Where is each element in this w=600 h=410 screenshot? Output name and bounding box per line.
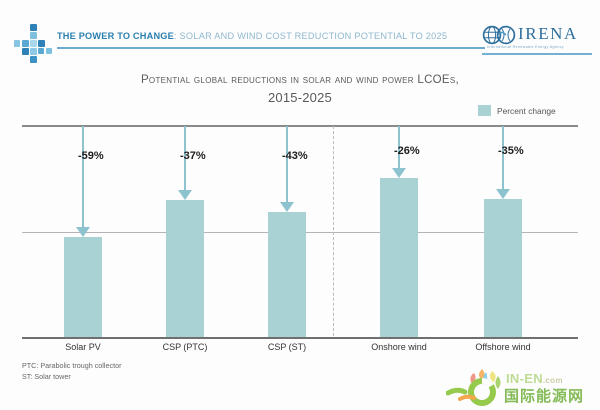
legend-label-percent-change: Percent change	[497, 106, 556, 116]
watermark-domain: .com	[543, 376, 563, 385]
irena-tagline: International Renewable Energy Agency	[487, 45, 564, 49]
value-label-csp-st: -43%	[282, 150, 308, 162]
report-series-title-rest: : SOLAR AND WIND COST REDUCTION POTENTIA…	[174, 31, 447, 41]
bar-onshore-wind	[380, 178, 418, 337]
irena-underline	[482, 53, 592, 55]
watermark-text-cn: 国际能源网	[504, 385, 584, 406]
chart-title-line1: Potential global reductions in solar and…	[0, 72, 600, 89]
chart-footnotes: PTC: Parabolic trough collector ST: Sola…	[22, 360, 121, 382]
value-label-onshore-wind: -26%	[394, 145, 420, 157]
report-series-title: THE POWER TO CHANGE: SOLAR AND WIND COST…	[57, 31, 447, 41]
bar-solar-pv	[64, 237, 102, 337]
value-label-offshore-wind: -35%	[498, 145, 524, 157]
pixel-cross-logo-icon	[14, 24, 58, 64]
irena-wordmark: IRENA	[518, 24, 578, 44]
header-underline	[57, 47, 485, 49]
value-label-solar-pv: -59%	[78, 150, 104, 162]
bar-offshore-wind	[484, 199, 522, 337]
watermark-text-en: IN-EN.com	[506, 371, 563, 386]
legend-swatch-percent-change	[478, 105, 491, 116]
category-label-onshore-wind: Onshore wind	[339, 342, 459, 352]
slide-canvas: THE POWER TO CHANGE: SOLAR AND WIND COST…	[0, 0, 600, 410]
arrow-csp-st	[280, 126, 294, 212]
arrow-solar-pv	[76, 126, 90, 237]
arrow-offshore-wind	[496, 126, 510, 199]
slide-header: THE POWER TO CHANGE: SOLAR AND WIND COST…	[0, 0, 600, 68]
chart-baseline	[22, 337, 578, 339]
report-series-title-bold: THE POWER TO CHANGE	[57, 31, 174, 41]
chart-legend: Percent change	[478, 105, 556, 116]
footnote-st: ST: Solar tower	[22, 371, 121, 382]
gridline-top	[22, 125, 578, 127]
bar-csp-st	[268, 212, 306, 337]
category-label-csp-st: CSP (ST)	[227, 342, 347, 352]
bar-csp-ptc	[166, 200, 204, 337]
chart-plot-area: -59% Solar PV -37% CSP (PTC) -43% CSP (S…	[22, 120, 578, 342]
chart-title: Potential global reductions in solar and…	[0, 72, 600, 108]
irena-logo: IRENA International Renewable Energy Age…	[482, 23, 592, 57]
irena-globe-icon	[482, 25, 516, 45]
arrow-csp-ptc	[178, 126, 192, 200]
footnote-ptc: PTC: Parabolic trough collector	[22, 360, 121, 371]
leaf-flower-logo-icon	[446, 366, 506, 406]
watermark: IN-EN.com 国际能源网	[446, 366, 594, 408]
value-label-csp-ptc: -37%	[180, 150, 206, 162]
solar-wind-divider	[333, 126, 334, 336]
category-label-offshore-wind: Offshore wind	[443, 342, 563, 352]
